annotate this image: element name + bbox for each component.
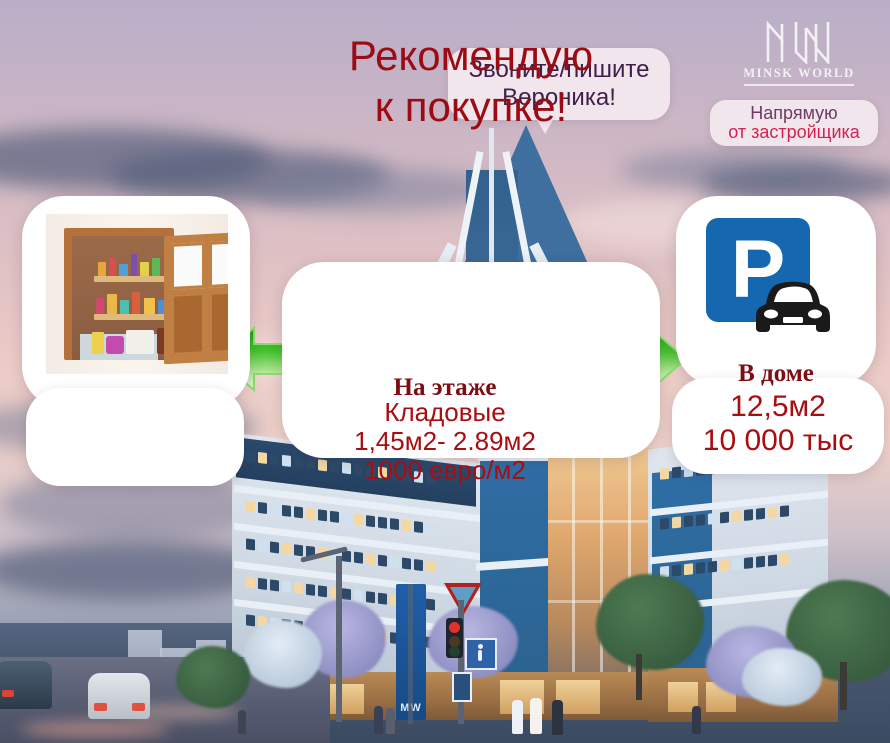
storage-item xyxy=(140,262,149,276)
storage-doorframe xyxy=(64,228,174,360)
center-card-text: Рекомендую к покупке! xyxy=(282,30,660,132)
atrium-mullion xyxy=(548,520,652,523)
promo-image: MW Звоните/пишите Вероника! xyxy=(0,0,890,743)
traffic-light-green xyxy=(449,646,460,657)
tree-trunk xyxy=(636,654,642,700)
storage-item xyxy=(132,292,140,314)
door-glass-pane xyxy=(209,240,228,288)
storage-item xyxy=(96,298,104,314)
mw-monogram-icon xyxy=(760,18,838,64)
pedestrian xyxy=(386,708,395,734)
pedestrian xyxy=(530,698,542,734)
storage-item xyxy=(152,258,160,276)
pedestrian-glyph xyxy=(478,644,483,649)
right-card-title: В доме xyxy=(676,360,876,388)
left-card-line-3: 1000 евро/м2 xyxy=(0,456,890,485)
center-card-line-2: к покупке! xyxy=(282,81,660,132)
car-taillight xyxy=(2,690,14,697)
tree xyxy=(596,574,704,670)
street-lamp-pole xyxy=(336,556,342,722)
storage-item xyxy=(144,298,155,314)
tree xyxy=(244,620,322,688)
traffic-light-red xyxy=(449,622,460,633)
car-taillight xyxy=(132,703,145,711)
storage-item xyxy=(98,262,106,276)
car xyxy=(88,673,150,719)
storage-room-icon xyxy=(46,214,228,374)
parking-sign-icon: P xyxy=(706,218,832,344)
storage-item xyxy=(120,300,129,314)
storage-item xyxy=(106,336,124,354)
brand-name: MINSK WORLD xyxy=(740,66,858,81)
pedestrian-crossing-sign-icon xyxy=(465,638,497,670)
pedestrian xyxy=(374,706,383,734)
storage-door xyxy=(164,232,228,365)
atrium-mullion xyxy=(600,448,603,698)
car-icon xyxy=(754,274,832,336)
pedestrian xyxy=(238,710,246,734)
door-glass-pane xyxy=(171,242,205,290)
badge-line-2: от застройщика xyxy=(728,123,860,142)
atrium-mullion xyxy=(572,448,575,698)
storage-item xyxy=(109,258,116,276)
badge-line-1: Напрямую xyxy=(750,104,837,123)
badge-direct-from-developer: Напрямую от застройщика xyxy=(710,100,878,146)
info-sign xyxy=(452,672,472,702)
pedestrian xyxy=(512,700,523,734)
storage-item xyxy=(92,332,104,354)
pedestrian-glyph xyxy=(478,650,482,661)
storage-shelf xyxy=(94,314,166,320)
traffic-light xyxy=(446,618,463,658)
storage-item xyxy=(119,264,128,276)
storage-item xyxy=(126,330,154,354)
pedestrian xyxy=(552,700,563,735)
banner-pole xyxy=(408,584,413,724)
tree xyxy=(176,646,250,708)
door-panel xyxy=(209,290,228,354)
tree-trunk xyxy=(840,662,847,710)
brand-logo: MINSK WORLD xyxy=(740,18,858,90)
right-card-line-1: 12,5м2 xyxy=(668,390,888,424)
right-card-details: 12,5м2 10 000 тыс xyxy=(668,390,888,457)
storage-item xyxy=(107,294,117,314)
center-card-line-1: Рекомендую xyxy=(282,30,660,81)
storage-interior xyxy=(72,236,166,360)
right-card-line-2: 10 000 тыс xyxy=(668,424,888,458)
car-taillight xyxy=(94,703,107,711)
storage-item xyxy=(131,254,137,276)
pedestrian xyxy=(692,706,701,734)
storage-shelf xyxy=(94,276,166,282)
road-reflection xyxy=(20,721,170,737)
logo-rule xyxy=(744,84,854,86)
car xyxy=(0,661,52,709)
door-panel xyxy=(171,292,205,356)
tree xyxy=(742,648,822,706)
